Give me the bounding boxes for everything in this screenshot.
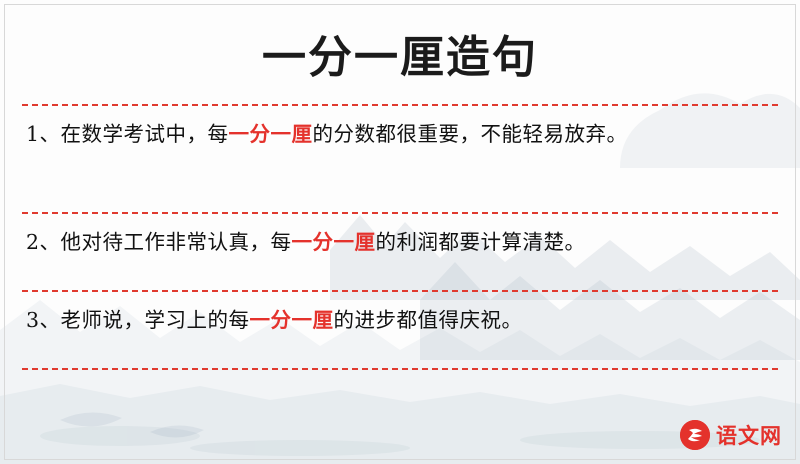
sentence-index: 2、 (26, 230, 61, 254)
watermark-text: 语文网 (716, 420, 782, 450)
sentence-keyword: 一分一厘 (292, 230, 376, 254)
sentence-index: 3、 (26, 308, 61, 332)
sentence-text-after: 的利润都要计算清楚。 (376, 230, 586, 254)
sentence-text-after: 的分数都很重要，不能轻易放弃。 (313, 122, 628, 146)
sentence-text-before: 老师说，学习上的每 (61, 308, 250, 332)
sentence-text-before: 在数学考试中，每 (61, 122, 229, 146)
watermark-logo: 语文网 (680, 420, 782, 450)
list-item: 3、老师说，学习上的每一分一厘的进步都值得庆祝。 (22, 292, 778, 368)
sentence-keyword: 一分一厘 (229, 122, 313, 146)
document-page: 一分一厘造句 1、在数学考试中，每一分一厘的分数都很重要，不能轻易放弃。 2、他… (0, 0, 800, 464)
document-content: 一分一厘造句 1、在数学考试中，每一分一厘的分数都很重要，不能轻易放弃。 2、他… (0, 0, 800, 464)
sentence-keyword: 一分一厘 (250, 308, 334, 332)
circular-brush-mark-icon (680, 420, 710, 450)
divider-bottom (22, 368, 778, 370)
sentence-text-after: 的进步都值得庆祝。 (334, 308, 523, 332)
list-item: 2、他对待工作非常认真，每一分一厘的利润都要计算清楚。 (22, 214, 778, 290)
page-title: 一分一厘造句 (22, 0, 778, 104)
sentence-text-before: 他对待工作非常认真，每 (61, 230, 292, 254)
sentence-index: 1、 (26, 122, 61, 146)
list-item: 1、在数学考试中，每一分一厘的分数都很重要，不能轻易放弃。 (22, 106, 778, 212)
